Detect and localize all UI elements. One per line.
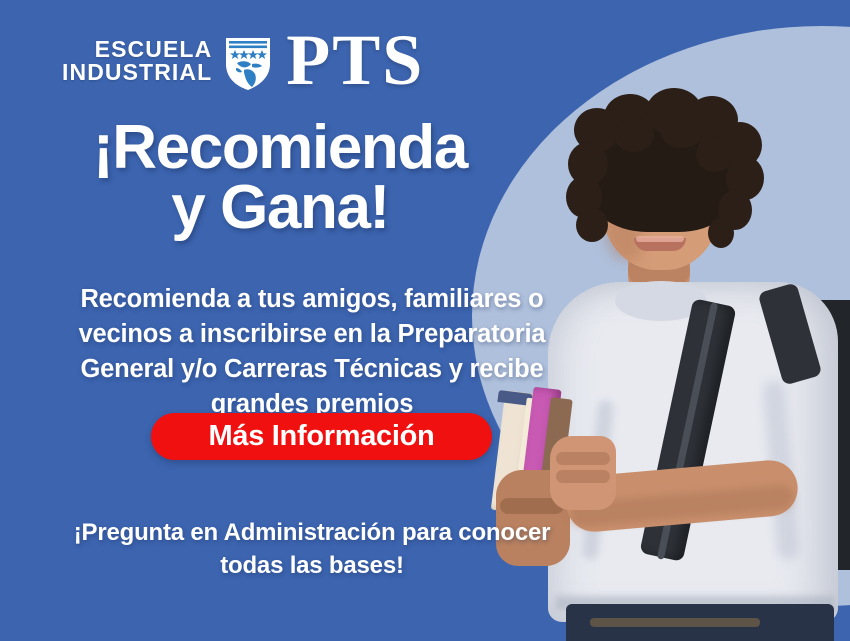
school-name-line1: ESCUELA xyxy=(95,38,213,61)
shield-crest-icon xyxy=(222,30,274,92)
footnote-text: ¡Pregunta en Administración para conocer… xyxy=(42,516,582,582)
promotional-banner: ESCUELA INDUSTRIAL xyxy=(0,0,850,641)
headline-line1: ¡Recomienda xyxy=(0,118,560,178)
hair-curl xyxy=(660,114,704,148)
hair-curl xyxy=(708,218,734,248)
school-logo: ESCUELA INDUSTRIAL xyxy=(62,30,424,92)
lip-highlight-shape xyxy=(636,236,684,242)
pts-monogram: PTS xyxy=(286,30,424,91)
hair-curl xyxy=(614,118,654,152)
hair-curl xyxy=(696,136,734,172)
school-name-line2: INDUSTRIAL xyxy=(62,61,212,84)
school-name: ESCUELA INDUSTRIAL xyxy=(62,38,212,85)
mas-informacion-button[interactable]: Más Información xyxy=(151,413,492,460)
headline-line2: y Gana! xyxy=(0,178,560,238)
content-column: ESCUELA INDUSTRIAL xyxy=(0,0,620,641)
body-paragraph: Recomienda a tus amigos, familiares o ve… xyxy=(42,282,582,423)
headline: ¡Recomienda y Gana! xyxy=(0,118,560,237)
